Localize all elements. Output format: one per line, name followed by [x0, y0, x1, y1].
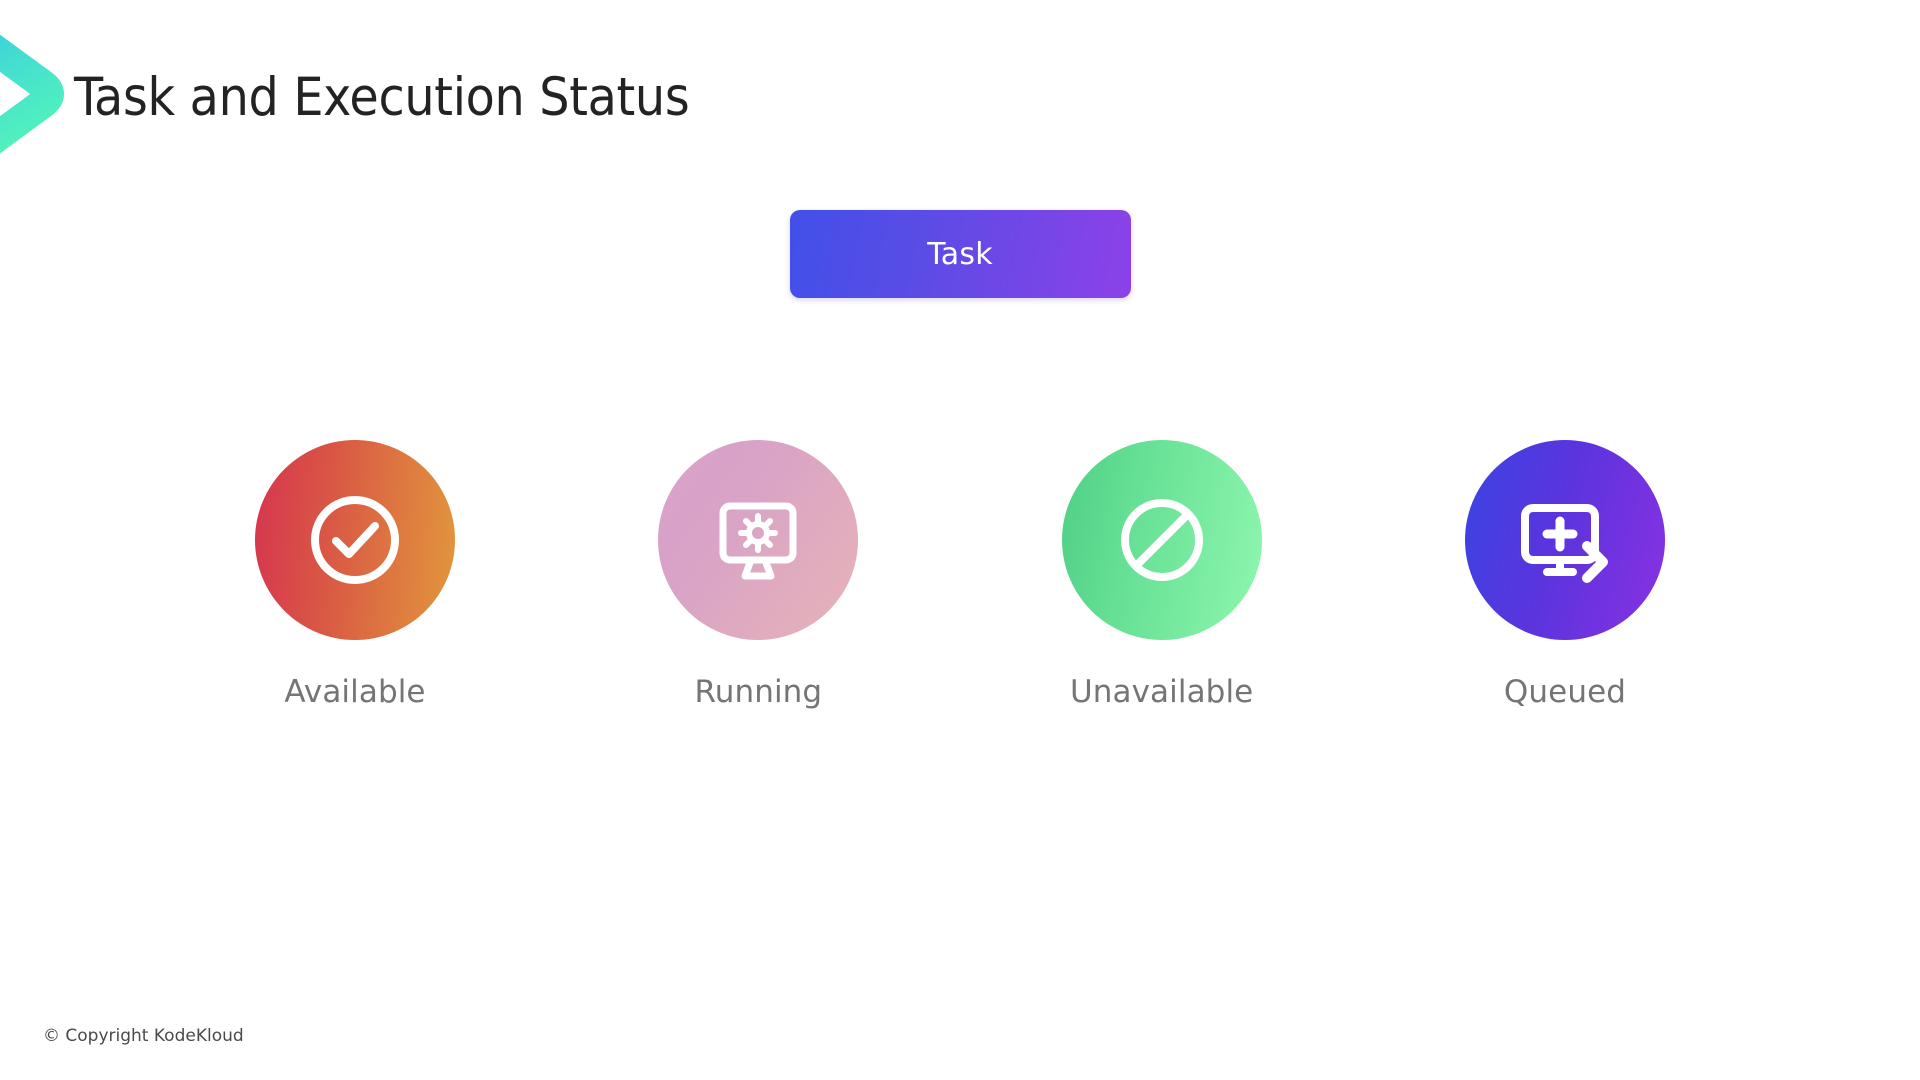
status-circle-running[interactable] — [658, 440, 858, 640]
status-circle-queued[interactable] — [1465, 440, 1665, 640]
status-legend: Available Running — [250, 440, 1670, 710]
status-label-unavailable: Unavailable — [1070, 674, 1253, 710]
page-title: Task and Execution Status — [74, 70, 1274, 126]
status-item-queued[interactable]: Queued — [1460, 440, 1670, 710]
status-item-available[interactable]: Available — [250, 440, 460, 710]
page-header: Task and Execution Status — [74, 70, 1274, 126]
status-circle-available[interactable] — [255, 440, 455, 640]
status-label-running: Running — [694, 674, 822, 710]
status-item-unavailable[interactable]: Unavailable — [1057, 440, 1267, 710]
monitor-gear-icon — [706, 488, 810, 592]
check-circle-icon — [303, 488, 407, 592]
ban-circle-icon — [1110, 488, 1214, 592]
task-button-row: Task — [0, 210, 1920, 298]
copyright-text: © Copyright KodeKloud — [43, 1026, 244, 1046]
chevron-right-logo-icon — [0, 18, 78, 170]
status-item-running[interactable]: Running — [653, 440, 863, 710]
footer: © Copyright KodeKloud — [43, 1026, 244, 1046]
status-label-available: Available — [284, 674, 425, 710]
monitor-plus-arrow-icon — [1511, 488, 1619, 592]
status-label-queued: Queued — [1504, 674, 1626, 710]
task-button[interactable]: Task — [790, 210, 1131, 298]
status-circle-unavailable[interactable] — [1062, 440, 1262, 640]
